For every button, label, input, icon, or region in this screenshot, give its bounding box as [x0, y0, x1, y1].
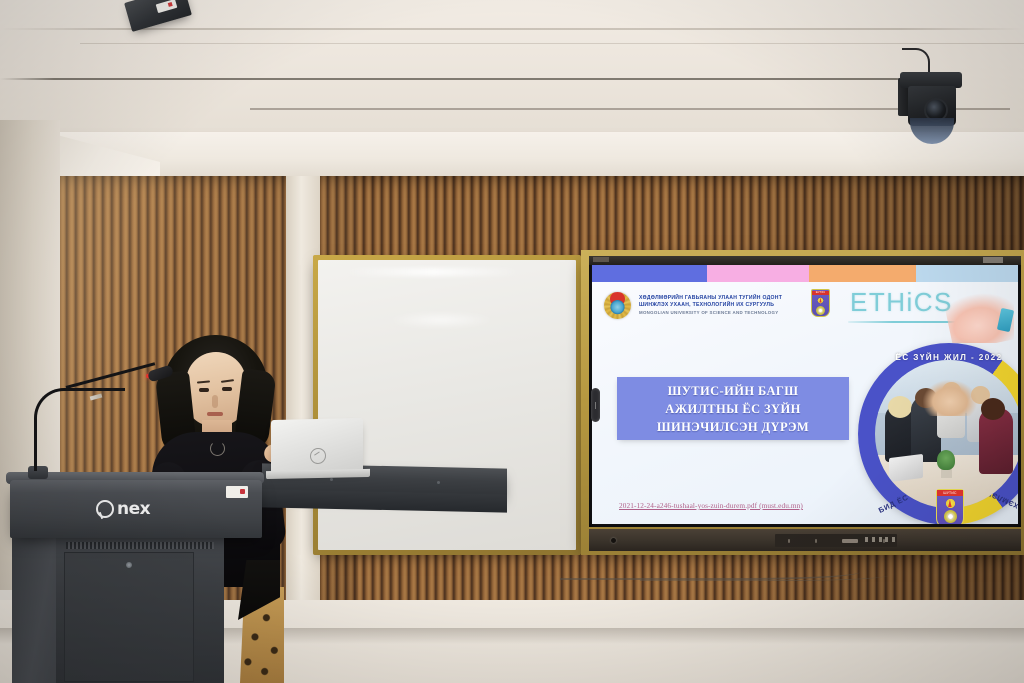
display-control-bar[interactable] [589, 529, 1021, 551]
display-side-button[interactable] [591, 388, 600, 422]
color-bar-segment-lightblue [916, 265, 1018, 282]
desk-screw-1 [330, 478, 333, 481]
soyombo-icon [817, 297, 824, 304]
badge-team-photo [875, 360, 1018, 508]
university-name-line3: MONGOLIAN UNIVERSITY OF SCIENCE AND TECH… [639, 310, 782, 316]
display-dot-2 [872, 537, 875, 542]
podium-asset-sticker [226, 486, 248, 498]
display-power-indicator [611, 538, 616, 543]
slide-title-box: ШУТИС-ИЙН БАГШ АЖИЛТНЫ ЁС ЗҮЙН ШИНЭЧИЛСЭ… [617, 377, 849, 440]
desk-screw-2 [437, 481, 440, 484]
university-name-block: ХӨДӨЛМӨРИЙН ГАВЬЯАНЫ УЛААН ТУГИЙН ОДОНТ … [639, 295, 782, 315]
photo-laptop [889, 454, 923, 482]
podium-lock-icon[interactable] [126, 562, 132, 568]
slide-title-line3: ШИНЭЧИЛСЭН ДҮРЭМ [657, 418, 809, 436]
podium-cabinet-door[interactable] [64, 552, 194, 682]
display-button-1[interactable] [788, 539, 790, 543]
display-indicator-dots [865, 537, 895, 542]
projector-label-sticker [156, 0, 178, 13]
ethics-year-badge: ЁС ЗҮЙН ЖИЛ - 2022 БИД ЁС ЗҮЙГ ЭРХЭМЛЭНЭ [858, 343, 1018, 524]
whiteboard-glare-secondary [386, 312, 496, 328]
slide-color-bar [592, 265, 1018, 282]
color-bar-segment-blue [592, 265, 707, 282]
display-top-strip [589, 256, 1021, 265]
lecture-hall-photo: ХӨДӨЛМӨРИЙН ГАВЬЯАНЫ УЛААН ТУГИЙН ОДОНТ … [0, 0, 1024, 683]
slide-title-line2: АЖИЛТНЫ ЁС ЗҮЙН [665, 400, 800, 418]
display-dot-5 [892, 537, 895, 542]
whiteboard-glare [342, 268, 522, 276]
university-crest-icon [604, 292, 631, 319]
presentation-slide: ХӨДӨЛМӨРИЙН ГАВЬЯАНЫ УЛААН ТУГИЙН ОДОНТ … [592, 265, 1018, 524]
podium-side-panel [12, 536, 58, 683]
slide-title-line1: ШУТИС-ИЙН БАГШ [668, 382, 799, 400]
podium-brand-name: nex [117, 499, 150, 519]
presenter-eye-right [222, 387, 232, 391]
badge-soyombo-icon [945, 498, 956, 509]
presenter-mouth [207, 412, 223, 416]
photo-person-1-head [888, 396, 912, 418]
ceiling-seam [0, 28, 1024, 30]
display-brand-logo [593, 257, 609, 262]
color-bar-segment-orange [809, 265, 916, 282]
podium-vent [66, 542, 214, 549]
photo-person-5-head [981, 398, 1005, 420]
display-dot-1 [865, 537, 868, 542]
dell-logo-icon [310, 448, 326, 464]
ceiling-seam-secondary [80, 43, 1024, 44]
slide-source-link[interactable]: 2021-12-24-a246-tushaal-yos-zuin-durem.p… [619, 501, 803, 510]
photo-plant [937, 450, 955, 470]
university-shield-icon: ШУТИС [811, 289, 830, 317]
display-button-2[interactable] [815, 539, 817, 543]
slide-header: ХӨДӨЛМӨРИЙН ГАВЬЯАНЫ УЛААН ТУГИЙН ОДОНТ … [604, 292, 782, 319]
presenter-eye-left [199, 388, 209, 392]
podium-brand-logo: nex [96, 498, 180, 520]
color-bar-segment-pink [707, 265, 809, 282]
display-model-badge [983, 257, 1003, 263]
ethics-branding: ETHiCS [844, 287, 1014, 343]
badge-shield-icon: ШУТИС [936, 489, 964, 524]
badge-gear-icon [944, 510, 957, 523]
gear-icon [816, 306, 825, 315]
display-brand-plate [842, 539, 858, 543]
qnex-q-icon [96, 500, 114, 518]
shield-label: ШУТИС [812, 291, 829, 295]
display-dot-3 [879, 537, 882, 542]
wall-cable-run-secondary [250, 108, 1010, 110]
interactive-display[interactable]: ХӨДӨЛМӨРИЙН ГАВЬЯАНЫ УЛААН ТУГИЙН ОДОНТ … [581, 250, 1024, 555]
presenter-nose [212, 395, 218, 408]
microphone-gooseneck[interactable] [34, 388, 125, 471]
display-dot-4 [885, 537, 888, 542]
wall-cable-run [0, 78, 905, 80]
badge-shield-label: ШУТИС [937, 490, 963, 496]
display-cable-secondary [640, 566, 890, 581]
university-name-line2: ШИНЖЛЭХ УХААН, ТЕХНОЛОГИЙН ИХ СУРГУУЛЬ [639, 302, 782, 309]
presenter-necklace [210, 441, 225, 456]
photo-plant-pot [941, 469, 952, 478]
laptop-lid [271, 418, 363, 474]
photo-joined-hands [923, 380, 977, 416]
